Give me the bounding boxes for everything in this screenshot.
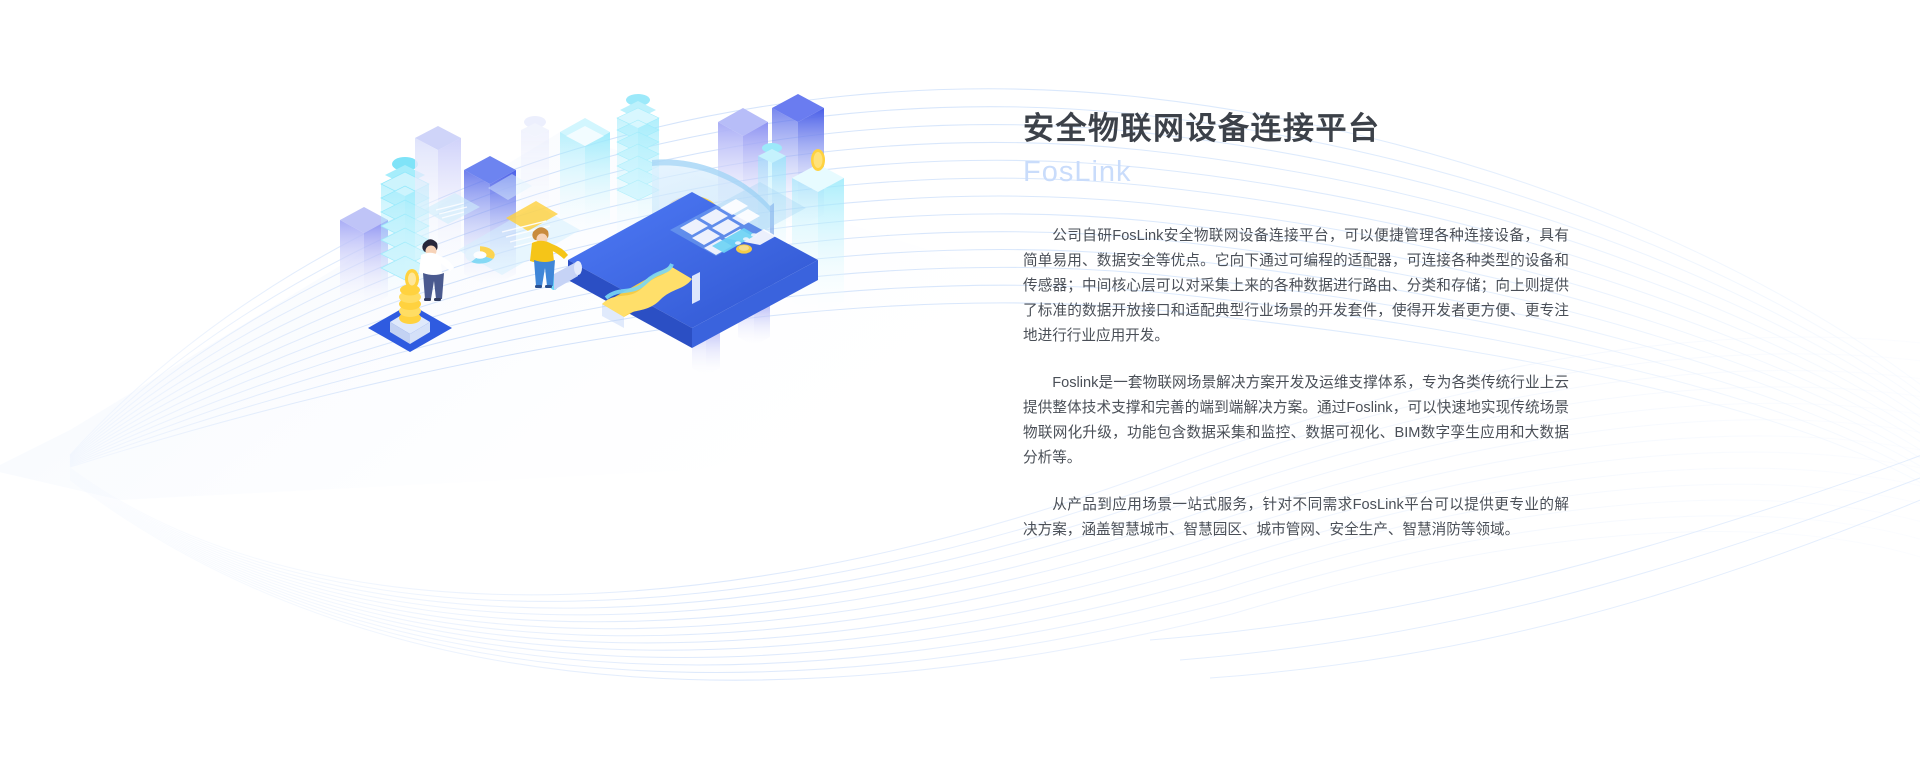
hero-section: 安全物联网设备连接平台 FosLink 公司自研FosLink安全物联网设备连接… — [0, 0, 1920, 760]
paragraph-1: 公司自研FosLink安全物联网设备连接平台，可以便捷管理各种连接设备，具有简单… — [1023, 224, 1569, 349]
background-wave-decoration — [0, 0, 1920, 760]
paragraph-2: Foslink是一套物联网场景解决方案开发及运维支撑体系，专为各类传统行业上云提… — [1023, 371, 1569, 471]
hero-copy: 安全物联网设备连接平台 FosLink 公司自研FosLink安全物联网设备连接… — [1023, 110, 1569, 543]
description-block: 公司自研FosLink安全物联网设备连接平台，可以便捷管理各种连接设备，具有简单… — [1023, 224, 1569, 543]
page-title: 安全物联网设备连接平台 — [1023, 110, 1569, 149]
isometric-illustration — [340, 60, 860, 380]
product-name-subtitle: FosLink — [1023, 155, 1569, 190]
paragraph-3: 从产品到应用场景一站式服务，针对不同需求FosLink平台可以提供更专业的解决方… — [1023, 493, 1569, 543]
